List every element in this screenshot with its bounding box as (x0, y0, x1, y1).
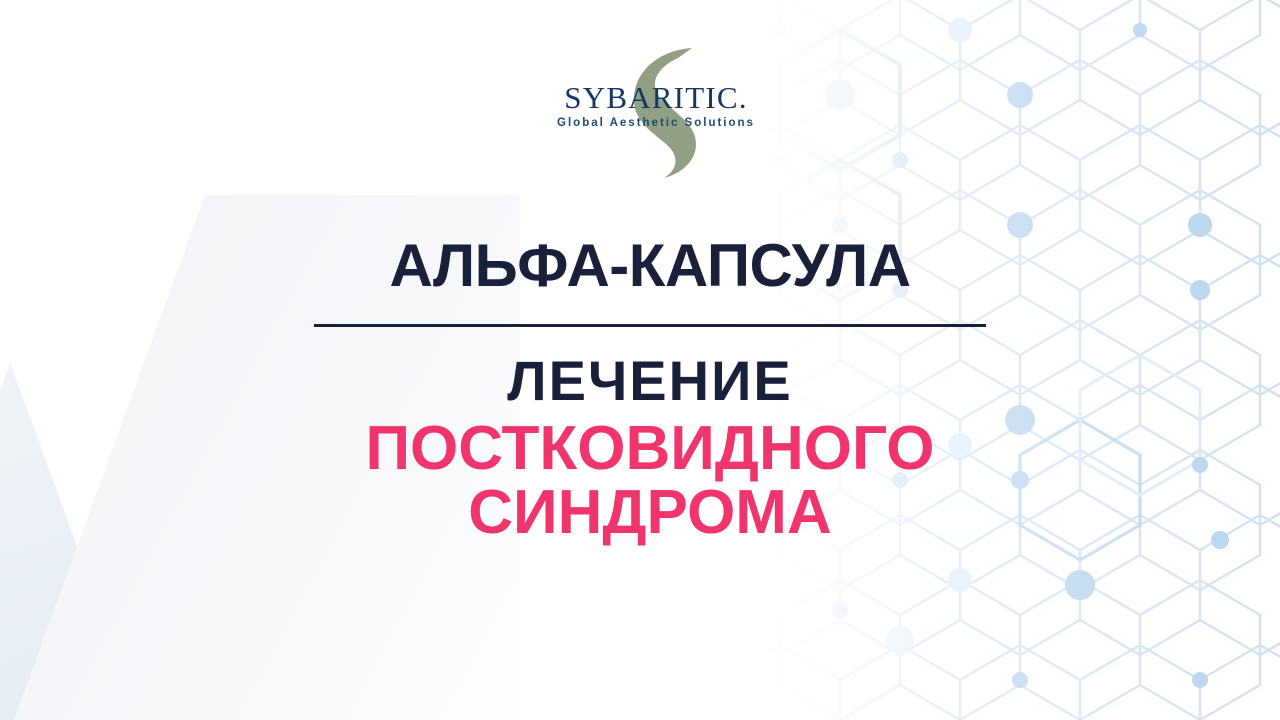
logo-wordmark: SYBARITIC. (548, 82, 764, 113)
product-title: АЛЬФА-КАПСУЛА (250, 236, 1050, 296)
condition-line-2: СИНДРОМА (250, 481, 1050, 545)
treatment-label: ЛЕЧЕНИЕ (250, 353, 1050, 409)
condition-line-1: ПОСТКОВИДНОГО (250, 417, 1050, 481)
headline-block: АЛЬФА-КАПСУЛА ЛЕЧЕНИЕ ПОСТКОВИДНОГО СИНД… (250, 236, 1050, 546)
logo-tagline: Global Aesthetic Solutions (540, 118, 772, 130)
title-slide: SYBARITIC. Global Aesthetic Solutions АЛ… (0, 0, 1280, 720)
title-divider (314, 324, 986, 327)
brand-logo: SYBARITIC. Global Aesthetic Solutions (540, 52, 770, 160)
